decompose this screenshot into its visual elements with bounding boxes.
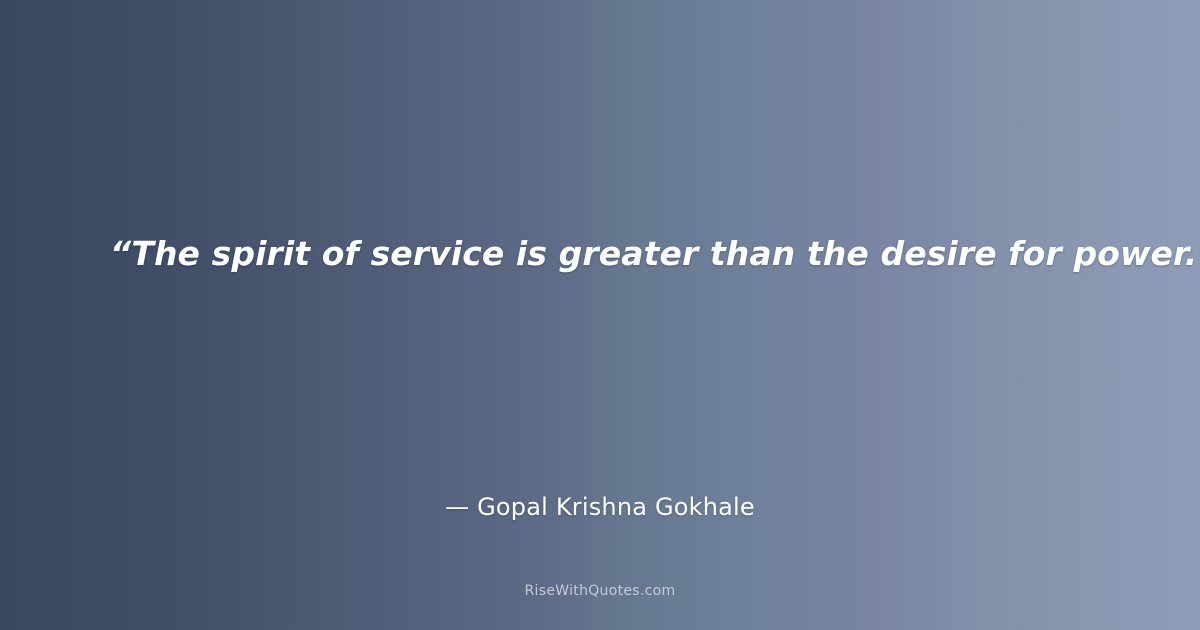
quote-block: “The spirit of service is greater than t… xyxy=(0,232,1200,276)
quote-text: “The spirit of service is greater than t… xyxy=(110,232,1090,276)
footer-block: RiseWithQuotes.com xyxy=(0,583,1200,599)
site-credit-watermark: RiseWithQuotes.com xyxy=(0,583,1200,599)
author-block: — Gopal Krishna Gokhale xyxy=(0,492,1200,523)
quote-card: “The spirit of service is greater than t… xyxy=(0,0,1200,630)
author-attribution: — Gopal Krishna Gokhale xyxy=(0,492,1200,523)
